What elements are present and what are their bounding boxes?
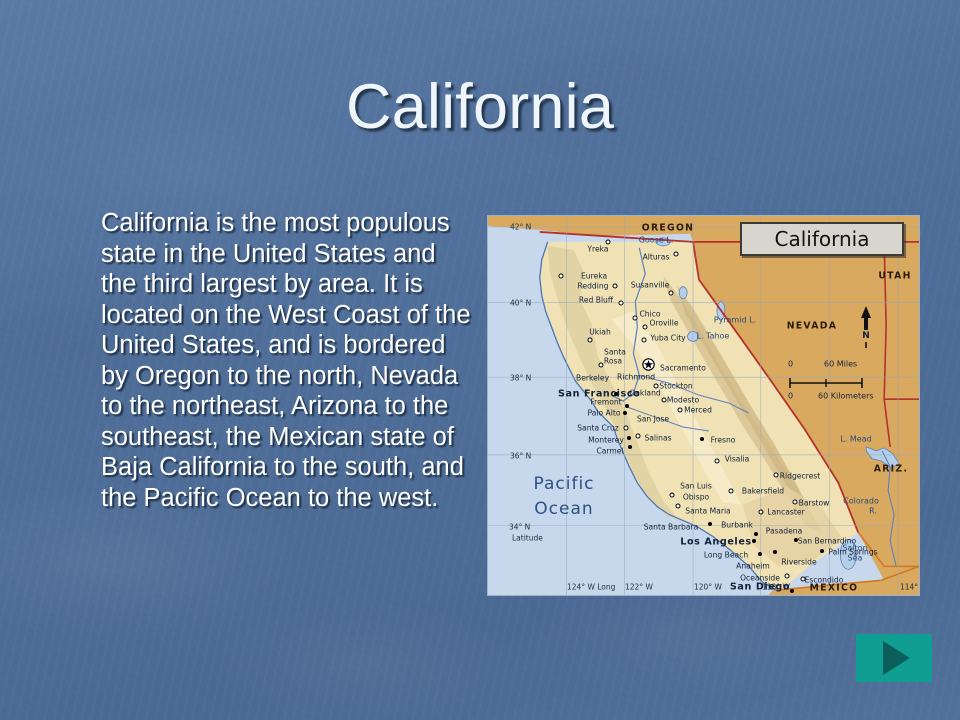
city-marker-santa-cruz	[624, 426, 629, 431]
california-map-image: California N 0 60 Miles 0 60 Kilometers …	[487, 215, 920, 596]
slide-canvas: California California is the most populo…	[0, 0, 960, 720]
city-marker-salinas	[636, 434, 641, 439]
city-marker-ukiah	[588, 338, 593, 343]
city-marker-burbank	[708, 522, 712, 526]
city-marker-pasadena	[754, 532, 758, 536]
city-marker-los-angeles	[752, 539, 756, 543]
city-marker-san-bernardino	[794, 538, 798, 542]
scale-bar-graphic	[784, 368, 896, 398]
city-marker-susanville	[669, 291, 674, 296]
city-marker-oroville	[643, 325, 648, 330]
city-marker-san-francisco	[614, 392, 618, 396]
city-marker-monterey	[627, 436, 631, 440]
body-paragraph: California is the most populous state in…	[101, 208, 473, 513]
play-triangle-icon	[883, 641, 910, 675]
city-marker-visalia	[715, 459, 720, 464]
city-marker-palm-springs	[820, 549, 824, 553]
city-marker-riverside	[773, 550, 777, 554]
city-marker-palo-alto	[623, 411, 627, 415]
city-marker-fresno	[700, 437, 704, 441]
city-marker-santa	[599, 363, 604, 368]
capital-star-icon-sacramento	[642, 358, 655, 371]
city-marker-yuba-city	[642, 338, 647, 343]
city-marker-fremont	[625, 404, 629, 408]
page-title: California	[0, 74, 960, 140]
city-marker-san-diego	[790, 589, 794, 593]
city-marker-lancaster	[759, 510, 764, 515]
north-arrow-icon	[859, 304, 873, 348]
city-marker-yreka	[606, 240, 611, 245]
city-marker-santa-maria	[676, 504, 681, 509]
city-marker-merced	[678, 408, 683, 413]
city-marker-modesto	[662, 398, 667, 403]
city-marker-oceanside	[785, 574, 790, 579]
city-marker-eureka	[559, 274, 564, 279]
map-title-text: California	[775, 227, 870, 251]
map-title-cartouche: California	[740, 222, 904, 256]
city-marker-barstow	[793, 500, 798, 505]
city-marker-bakersfield	[729, 489, 734, 494]
city-marker-escondido	[801, 577, 806, 582]
next-slide-button[interactable]	[856, 634, 932, 682]
city-marker-alturas	[674, 252, 679, 257]
city-marker-red-bluff	[619, 301, 624, 306]
city-marker-ridgecrest	[774, 473, 779, 478]
city-marker-san-luis	[670, 493, 675, 498]
city-marker-long-beach	[758, 552, 762, 556]
city-marker-redding	[613, 284, 618, 289]
city-marker-stockton	[654, 384, 659, 389]
city-marker-carmel	[628, 445, 632, 449]
city-marker-chico	[633, 316, 638, 321]
map-vector-graphic	[488, 216, 919, 595]
